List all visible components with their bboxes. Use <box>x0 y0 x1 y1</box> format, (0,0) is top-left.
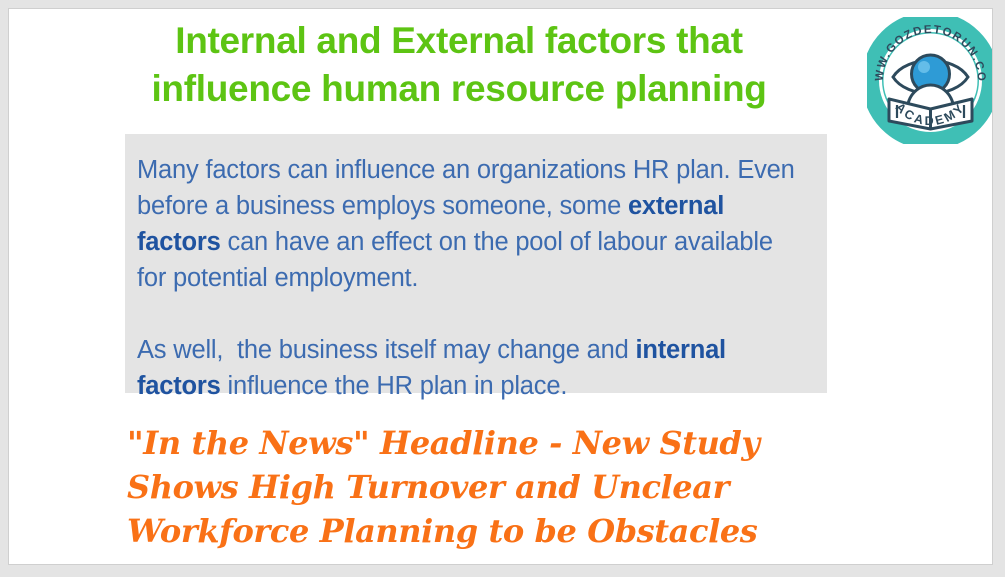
body-paragraph-2: As well, the business itself may change … <box>137 332 807 404</box>
news-headline: "In the News" Headline - New Study Shows… <box>127 421 827 553</box>
paragraph-spacer <box>137 296 807 332</box>
body-text-box: Many factors can influence an organizati… <box>125 134 827 393</box>
slide-canvas: Internal and External factors that influ… <box>8 8 993 565</box>
page-title-line-2: influence human resource planning <box>69 65 849 113</box>
page-title-line-1: Internal and External factors that <box>69 17 849 65</box>
academy-logo: WWW.GOZDETORUN.COM ACADEMY <box>867 17 993 144</box>
paragraph-2-part-2: influence the HR plan in place. <box>221 372 568 400</box>
body-paragraph-1: Many factors can influence an organizati… <box>137 152 807 296</box>
paragraph-2-part-1: As well, the business itself may change … <box>137 336 635 364</box>
news-headline-text: "In the News" Headline - New Study Shows… <box>127 421 827 553</box>
page-title: Internal and External factors that influ… <box>69 17 849 113</box>
paragraph-1-part-2: can have an effect on the pool of labour… <box>137 228 780 292</box>
academy-logo-icon: WWW.GOZDETORUN.COM ACADEMY <box>867 17 993 144</box>
